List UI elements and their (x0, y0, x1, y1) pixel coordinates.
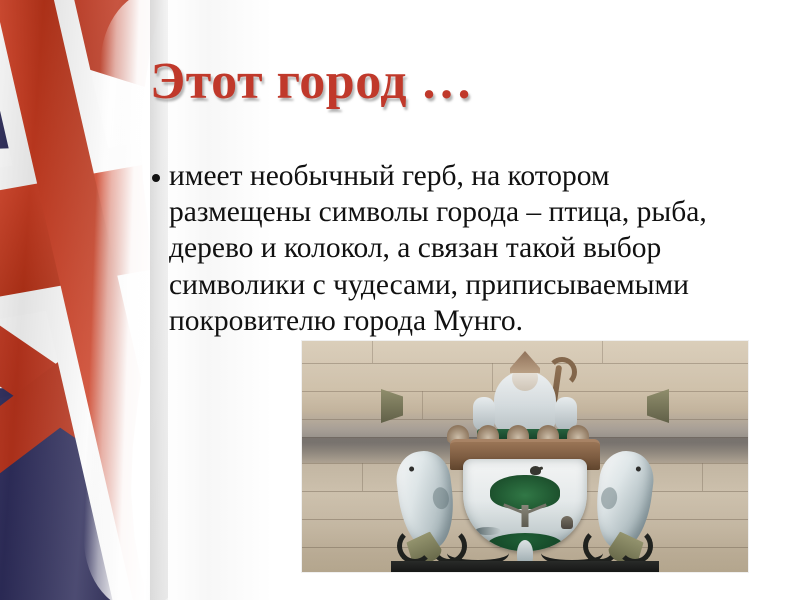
bullet-text: имеет необычный герб, на котором размеще… (169, 158, 717, 339)
glasgow-coat-of-arms-photo (302, 341, 748, 572)
tree-trunk-icon (522, 505, 529, 527)
coat-of-arms-relief (395, 347, 655, 572)
fish-eye-icon (409, 466, 415, 472)
crozier-curl-icon (547, 357, 577, 387)
bird-icon (530, 466, 541, 475)
fish-fin-icon (600, 486, 619, 510)
left-mount-bracket (381, 389, 403, 423)
bullet-list: имеет необычный герб, на котором размеще… (152, 158, 717, 339)
slide-canvas: Этот город … имеет необычный герб, на ко… (0, 0, 800, 600)
right-mount-bracket (647, 389, 669, 423)
union-jack-flag (0, 0, 168, 600)
iron-bar (391, 561, 659, 572)
iron-scroll (617, 528, 653, 564)
mitre-icon (510, 351, 540, 373)
iron-scroll (583, 528, 619, 564)
iron-scroll (431, 528, 467, 564)
fish-eye-icon (636, 466, 642, 472)
fish-fin-icon (432, 486, 451, 510)
ironwork-scrollwork (391, 534, 659, 572)
slide-title: Этот город … (150, 52, 473, 111)
bullet-marker-icon (152, 174, 160, 182)
iron-scroll (397, 528, 433, 564)
tree-canopy-icon (490, 475, 560, 509)
bell-icon (561, 516, 573, 529)
